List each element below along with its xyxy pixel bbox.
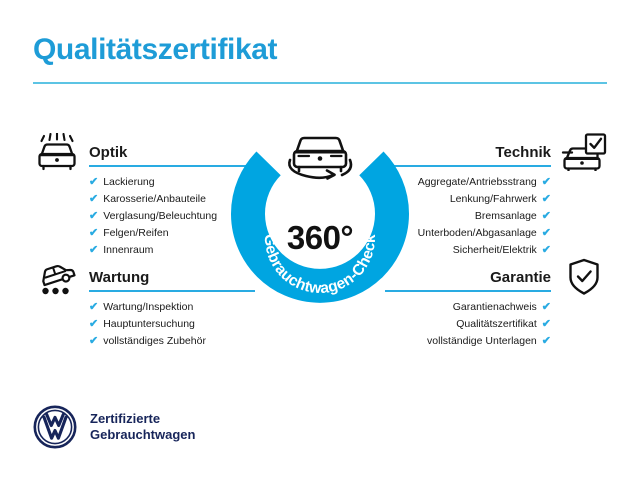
check-icon: ✔ bbox=[542, 211, 551, 222]
section-optik: Optik ✔Lackierung ✔Karosserie/Anbauteile… bbox=[33, 133, 255, 259]
list-item-label: Felgen/Reifen bbox=[103, 225, 168, 242]
list-item-label: Hauptuntersuchung bbox=[103, 316, 195, 333]
car-lift-service-icon bbox=[33, 258, 79, 296]
list-item: vollständige Unterlagen✔ bbox=[385, 333, 551, 350]
list-item-label: Wartung/Inspektion bbox=[103, 299, 193, 316]
section-wartung: Wartung ✔Wartung/Inspektion ✔Hauptunters… bbox=[33, 258, 255, 350]
check-icon: ✔ bbox=[542, 336, 551, 347]
section-title-optik: Optik bbox=[89, 144, 127, 161]
check-icon: ✔ bbox=[89, 319, 98, 330]
checklist-wartung: ✔Wartung/Inspektion ✔Hauptuntersuchung ✔… bbox=[33, 299, 255, 350]
list-item: ✔Hauptuntersuchung bbox=[89, 316, 255, 333]
check-icon: ✔ bbox=[89, 228, 98, 239]
page-title: Qualitätszertifikat bbox=[33, 33, 277, 67]
badge-degrees-label: 360° bbox=[228, 219, 412, 257]
list-item-label: vollständige Unterlagen bbox=[427, 333, 537, 350]
list-item-label: Aggregate/Antriebsstrang bbox=[418, 174, 537, 191]
list-item: Qualitätszertifikat✔ bbox=[385, 316, 551, 333]
list-item-label: Sicherheit/Elektrik bbox=[453, 242, 537, 259]
checklist-technik: Aggregate/Antriebsstrang✔ Lenkung/Fahrwe… bbox=[385, 174, 607, 259]
section-garantie: Garantie Garantienachweis✔ Qualitätszert… bbox=[385, 258, 607, 350]
checklist-optik: ✔Lackierung ✔Karosserie/Anbauteile ✔Verg… bbox=[33, 174, 255, 259]
list-item-label: vollständiges Zubehör bbox=[103, 333, 206, 350]
list-item-label: Lackierung bbox=[103, 174, 154, 191]
check-icon: ✔ bbox=[542, 319, 551, 330]
list-item-label: Garantienachweis bbox=[453, 299, 537, 316]
footer-brand: Zertifizierte Gebrauchtwagen bbox=[33, 405, 195, 449]
list-item-label: Innenraum bbox=[103, 242, 153, 259]
check-icon: ✔ bbox=[542, 194, 551, 205]
vw-logo bbox=[33, 405, 77, 449]
list-item-label: Unterboden/Abgasanlage bbox=[418, 225, 537, 242]
check-icon: ✔ bbox=[542, 302, 551, 313]
check-icon: ✔ bbox=[542, 228, 551, 239]
list-item-label: Bremsanlage bbox=[475, 208, 537, 225]
quality-certificate-page: Qualitätszertifikat bbox=[0, 0, 640, 480]
list-item-label: Lenkung/Fahrwerk bbox=[450, 191, 537, 208]
check-icon: ✔ bbox=[542, 177, 551, 188]
list-item-label: Verglasung/Beleuchtung bbox=[103, 208, 217, 225]
section-technik: Technik Aggregate/Antriebsstrang✔ Lenkun… bbox=[385, 133, 607, 259]
header-divider bbox=[33, 82, 607, 84]
check-icon: ✔ bbox=[89, 194, 98, 205]
check-icon: ✔ bbox=[542, 245, 551, 256]
car-shine-icon bbox=[33, 133, 79, 171]
check-icon: ✔ bbox=[89, 177, 98, 188]
section-header-optik: Optik bbox=[33, 133, 255, 167]
list-item-label: Qualitätszertifikat bbox=[456, 316, 537, 333]
car-checkbox-icon bbox=[561, 133, 607, 171]
footer-text: Zertifizierte Gebrauchtwagen bbox=[90, 411, 195, 443]
check-icon: ✔ bbox=[89, 336, 98, 347]
section-title-garantie: Garantie bbox=[490, 269, 551, 286]
section-title-wartung: Wartung bbox=[89, 269, 149, 286]
section-header-garantie: Garantie bbox=[385, 258, 607, 292]
footer-line-1: Zertifizierte bbox=[90, 411, 195, 427]
footer-line-2: Gebrauchtwagen bbox=[90, 427, 195, 443]
check-icon: ✔ bbox=[89, 211, 98, 222]
list-item: ✔vollständiges Zubehör bbox=[89, 333, 255, 350]
check-icon: ✔ bbox=[89, 302, 98, 313]
check-icon: ✔ bbox=[89, 245, 98, 256]
badge-360-gebrauchtwagen-check: Gebrauchtwagen-Check 360° bbox=[228, 120, 412, 310]
section-header-technik: Technik bbox=[385, 133, 607, 167]
list-item-label: Karosserie/Anbauteile bbox=[103, 191, 206, 208]
checklist-garantie: Garantienachweis✔ Qualitätszertifikat✔ v… bbox=[385, 299, 607, 350]
section-header-wartung: Wartung bbox=[33, 258, 255, 292]
shield-check-icon bbox=[561, 258, 607, 296]
section-title-technik: Technik bbox=[495, 144, 551, 161]
